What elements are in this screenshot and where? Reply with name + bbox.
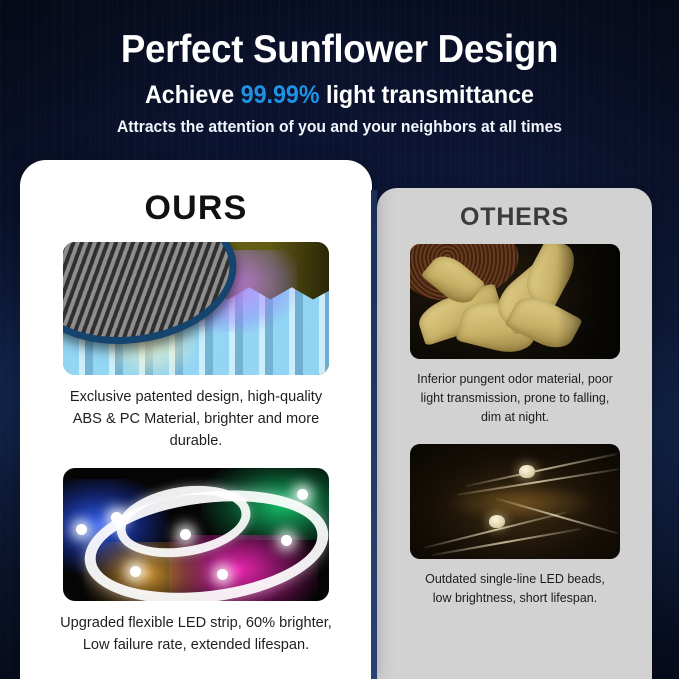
rgb-led-strip-photo (63, 468, 329, 601)
ours-panel: OURS Exclusive patented design, high-qua… (20, 160, 372, 679)
others-caption-1: Inferior pungent odor material, poor lig… (403, 369, 626, 426)
led-bead (489, 515, 505, 528)
led-bead (519, 465, 535, 478)
led-point (281, 535, 292, 546)
caption-line: ABS & PC Material, brighter and more (50, 408, 342, 430)
caption-line: Outdated single-line LED beads, (403, 569, 626, 588)
others-heading: OTHERS (377, 188, 652, 232)
others-caption-2: Outdated single-line LED beads, low brig… (403, 569, 626, 607)
subtitle-prefix: Achieve (145, 81, 241, 109)
subtitle: Achieve 99.99% light transmittance (24, 74, 655, 110)
caption-line: Inferior pungent odor material, poor (403, 369, 626, 388)
caption-line: Exclusive patented design, high-quality (50, 386, 342, 408)
dim-led-beads-photo (410, 444, 620, 559)
subtitle-suffix: light transmittance (320, 81, 534, 109)
ours-caption-2: Upgraded flexible LED strip, 60% brighte… (50, 612, 342, 656)
others-panel: OTHERS Inferior pungent odor material, p… (377, 188, 652, 679)
caption-line: durable. (50, 430, 342, 452)
ours-heading: OURS (20, 160, 372, 228)
header-block: Perfect Sunflower Design Achieve 99.99% … (0, 0, 679, 138)
led-point (111, 512, 122, 523)
ours-caption-1: Exclusive patented design, high-quality … (50, 386, 342, 452)
caption-line: low brightness, short lifespan. (403, 588, 626, 607)
led-point (130, 566, 141, 577)
page-title: Perfect Sunflower Design (20, 0, 658, 74)
caption-line: Low failure rate, extended lifespan. (50, 634, 342, 656)
caption-line: dim at night. (403, 407, 626, 426)
photo-haze (447, 483, 594, 522)
tagline: Attracts the attention of you and your n… (17, 110, 662, 138)
photo-shadow-overlay (557, 244, 620, 359)
panel-divider (371, 190, 377, 679)
wire-line (431, 527, 580, 555)
dull-sunflower-photo (410, 244, 620, 359)
caption-line: Upgraded flexible LED strip, 60% brighte… (50, 612, 342, 634)
transmittance-value: 99.99% (241, 81, 320, 109)
product-comparison-infographic: Perfect Sunflower Design Achieve 99.99% … (0, 0, 679, 679)
sunflower-cap-closeup-photo (63, 242, 329, 375)
caption-line: light transmission, prone to falling, (403, 388, 626, 407)
